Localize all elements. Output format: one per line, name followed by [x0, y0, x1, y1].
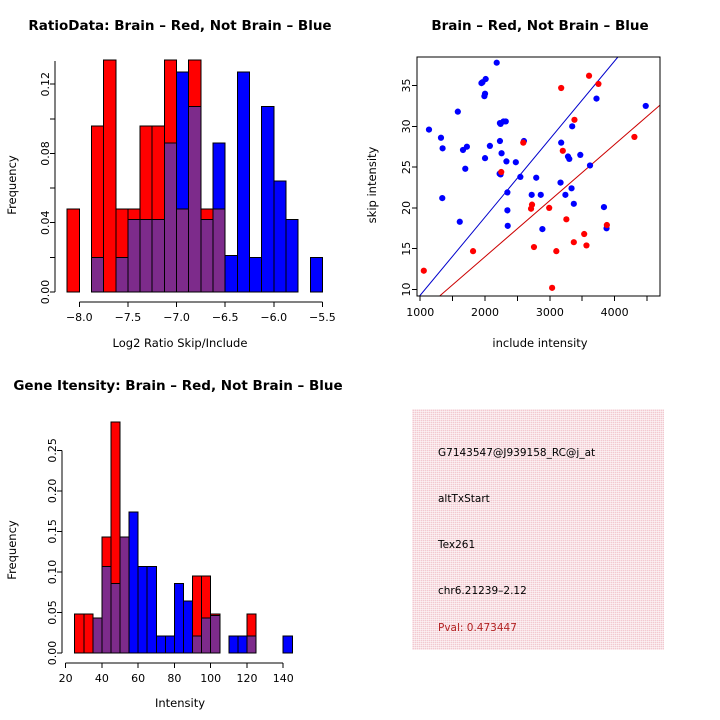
gene-histogram-ylabel: Frequency	[5, 520, 19, 580]
y-tick-label: 10	[400, 282, 413, 296]
x-tick-label: 140	[273, 672, 294, 685]
x-tick-label: 40	[95, 672, 109, 685]
histogram-bar-overlap	[247, 636, 256, 653]
scatter-point	[455, 109, 461, 115]
scatter-point	[494, 60, 500, 66]
scatter-point	[520, 140, 526, 146]
y-tick-label: 0.15	[46, 519, 59, 544]
scatter-point	[470, 248, 476, 254]
scatter-point	[438, 135, 444, 141]
gene-histogram-title: Gene Itensity: Brain – Red, Not Brain – …	[13, 378, 342, 394]
histogram-bar	[249, 257, 261, 292]
y-tick-label: 20	[400, 201, 413, 215]
scatter-point	[481, 93, 487, 99]
histogram-bar-overlap	[128, 219, 140, 292]
scatter-point	[546, 205, 552, 211]
gene-symbol-text: Tex261	[438, 539, 475, 551]
histogram-bar-overlap	[120, 537, 129, 653]
y-tick-label: 35	[400, 79, 413, 93]
histogram-bar-overlap	[213, 209, 225, 292]
histogram-bar	[75, 614, 84, 653]
scatter-point	[538, 192, 544, 198]
scatter-point	[568, 185, 574, 191]
scatter-point	[533, 175, 539, 181]
scatter-ylabel: skip intensity	[365, 146, 379, 223]
scatter-point	[421, 268, 427, 274]
y-tick-label: 0.10	[46, 560, 59, 585]
histogram-bar	[184, 601, 193, 653]
scatter-point	[571, 201, 577, 207]
figure-canvas: RatioData: Brain – Red, Not Brain – Blue…	[0, 0, 720, 720]
x-tick-label: −7.0	[163, 311, 190, 324]
scatter-point	[487, 143, 493, 149]
histogram-bar	[237, 72, 249, 292]
scatter-point	[498, 169, 504, 175]
histogram-bar-overlap	[140, 219, 152, 292]
scatter-point	[503, 158, 509, 164]
gene-info-background: G7143547@J939158_RC@j_at altTxStart Tex2…	[412, 409, 664, 650]
histogram-bar	[104, 60, 116, 292]
histogram-bar	[274, 181, 286, 292]
histogram-bar	[138, 566, 147, 653]
ratio-histogram-svg: RatioData: Brain – Red, Not Brain – Blue…	[0, 0, 360, 360]
scatter-point	[549, 285, 555, 291]
scatter-point	[503, 118, 509, 124]
scatter-point	[577, 152, 583, 158]
histogram-bar-overlap	[91, 257, 103, 292]
scatter-point	[558, 85, 564, 91]
x-tick-label: 60	[131, 672, 145, 685]
histogram-bar	[129, 512, 138, 653]
scatter-point	[457, 219, 463, 225]
gene-histogram-bars	[75, 422, 293, 653]
scatter-plot-title: Brain – Red, Not Brain – Blue	[431, 18, 648, 34]
scatter-point	[581, 231, 587, 237]
scatter-point	[483, 76, 489, 82]
scatter-point	[439, 195, 445, 201]
scatter-point	[643, 103, 649, 109]
histogram-bar	[174, 583, 183, 653]
regression-line	[440, 105, 660, 296]
scatter-point	[563, 216, 569, 222]
y-tick-label: 0.04	[39, 210, 52, 235]
scatter-point	[566, 156, 572, 162]
histogram-bar	[225, 256, 237, 292]
scatter-point	[571, 117, 577, 123]
ratio-histogram-ylabel: Frequency	[5, 155, 19, 215]
scatter-point	[595, 81, 601, 87]
histogram-bar	[229, 636, 238, 653]
locus-text: chr6.21239–2.12	[438, 585, 527, 597]
histogram-bar-overlap	[201, 219, 213, 292]
scatter-point	[587, 162, 593, 168]
histogram-bar	[147, 566, 156, 653]
x-tick-label: 4000	[601, 306, 629, 319]
panel-scatter-plot: Brain – Red, Not Brain – Blue 1015202530…	[360, 0, 720, 360]
histogram-bar-overlap	[202, 618, 211, 653]
histogram-bar	[84, 614, 93, 653]
scatter-point	[505, 223, 511, 229]
scatter-point	[529, 192, 535, 198]
y-tick-label: 0.12	[39, 72, 52, 97]
scatter-point	[497, 138, 503, 144]
scatter-point	[557, 180, 563, 186]
histogram-bar-overlap	[152, 219, 164, 292]
scatter-point	[504, 189, 510, 195]
histogram-bar-overlap	[189, 107, 201, 292]
panel-ratio-histogram: RatioData: Brain – Red, Not Brain – Blue…	[0, 0, 360, 360]
scatter-point	[531, 244, 537, 250]
x-tick-label: 80	[167, 672, 181, 685]
gene-histogram-svg: Gene Itensity: Brain – Red, Not Brain – …	[0, 360, 360, 720]
histogram-bar-overlap	[111, 583, 120, 653]
scatter-axes: 1015202530351000200030004000	[400, 57, 660, 319]
scatter-point	[571, 239, 577, 245]
histogram-bar-overlap	[211, 616, 220, 653]
histogram-bar	[165, 636, 174, 653]
scatter-fit-lines	[420, 57, 660, 296]
scatter-point	[604, 222, 610, 228]
scatter-point	[482, 155, 488, 161]
y-tick-label: 0.00	[39, 280, 52, 305]
histogram-bar	[156, 636, 165, 653]
gene-histogram-xlabel: Intensity	[155, 696, 205, 710]
scatter-point	[462, 166, 468, 172]
x-tick-label: 20	[59, 672, 73, 685]
scatter-xlabel: include intensity	[492, 336, 587, 350]
histogram-bar-overlap	[102, 566, 111, 653]
x-tick-label: 3000	[536, 306, 564, 319]
event-type-text: altTxStart	[438, 493, 490, 505]
histogram-bar	[238, 636, 247, 653]
histogram-bar-overlap	[93, 618, 102, 653]
histogram-bar	[67, 209, 79, 292]
scatter-point	[553, 248, 559, 254]
x-tick-label: −5.5	[309, 311, 336, 324]
probe-id-text: G7143547@J939158_RC@j_at	[438, 447, 595, 459]
x-tick-label: 120	[236, 672, 257, 685]
scatter-point	[593, 96, 599, 102]
histogram-bar-overlap	[164, 143, 176, 292]
histogram-bar	[310, 257, 322, 292]
scatter-point	[601, 204, 607, 210]
y-tick-label: 0.25	[46, 438, 59, 463]
ratio-histogram-title: RatioData: Brain – Red, Not Brain – Blue	[28, 18, 331, 34]
panel-gene-histogram: Gene Itensity: Brain – Red, Not Brain – …	[0, 360, 360, 720]
scatter-data-points	[421, 60, 649, 291]
scatter-point	[560, 148, 566, 154]
scatter-point	[513, 159, 519, 165]
ratio-histogram-bars	[67, 60, 322, 292]
scatter-point	[504, 207, 510, 213]
scatter-point	[528, 206, 534, 212]
y-tick-label: 0.00	[46, 641, 59, 666]
histogram-bar-overlap	[177, 209, 189, 292]
scatter-plot-svg: Brain – Red, Not Brain – Blue 1015202530…	[360, 0, 720, 360]
scatter-point	[517, 174, 523, 180]
x-tick-label: −6.5	[212, 311, 239, 324]
y-tick-label: 15	[400, 242, 413, 256]
scatter-point	[426, 126, 432, 132]
x-tick-label: 2000	[471, 306, 499, 319]
histogram-bar-overlap	[193, 636, 202, 653]
y-tick-label: 0.05	[46, 600, 59, 625]
y-tick-label: 0.08	[39, 141, 52, 166]
scatter-point	[558, 140, 564, 146]
y-tick-label: 25	[400, 160, 413, 174]
scatter-point	[562, 192, 568, 198]
y-tick-label: 0.20	[46, 479, 59, 504]
y-tick-label: 30	[400, 119, 413, 133]
histogram-bar	[262, 107, 274, 292]
histogram-bar-overlap	[116, 257, 128, 292]
histogram-bar	[283, 636, 292, 653]
scatter-point	[464, 144, 470, 150]
scatter-point	[539, 226, 545, 232]
x-tick-label: −8.0	[66, 311, 93, 324]
scatter-point	[439, 145, 445, 151]
scatter-point	[498, 150, 504, 156]
x-tick-label: 100	[200, 672, 221, 685]
scatter-point	[569, 123, 575, 129]
x-tick-label: −7.5	[115, 311, 142, 324]
x-tick-label: 1000	[406, 306, 434, 319]
scatter-point	[631, 134, 637, 140]
scatter-point	[586, 73, 592, 79]
histogram-bar	[286, 219, 298, 292]
ratio-histogram-xlabel: Log2 Ratio Skip/Include	[113, 336, 248, 350]
pval-text: Pval: 0.473447	[438, 622, 517, 634]
panel-gene-info: G7143547@J939158_RC@j_at altTxStart Tex2…	[360, 360, 720, 720]
x-tick-label: −6.0	[260, 311, 287, 324]
scatter-point	[583, 242, 589, 248]
